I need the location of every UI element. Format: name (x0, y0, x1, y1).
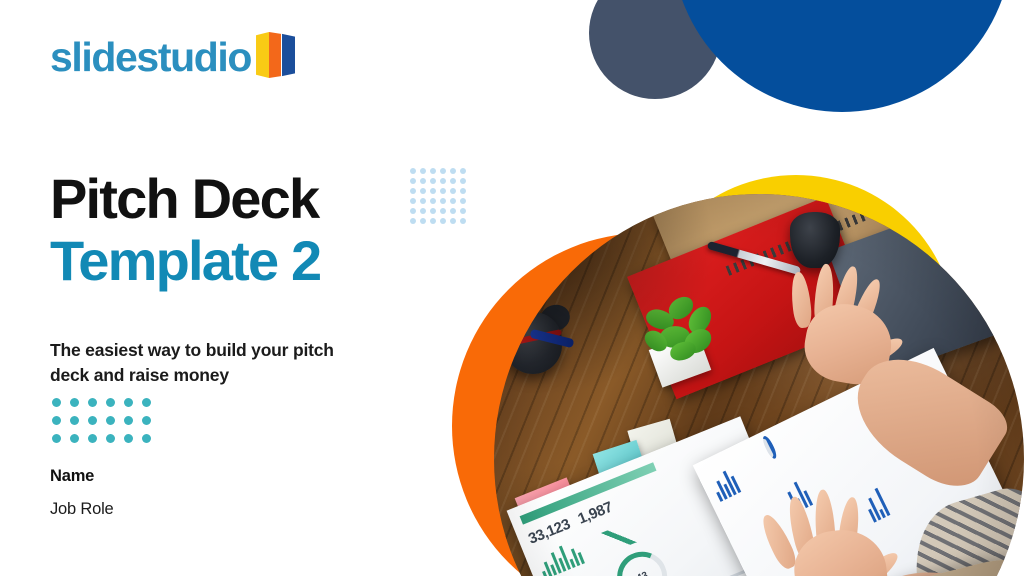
brand-logo[interactable]: slidestudio (50, 32, 296, 82)
title-line-secondary: Template 2 (50, 230, 450, 292)
brand-logo-pages-icon (256, 32, 296, 82)
author-name: Name (50, 467, 114, 486)
dot-grid-teal (52, 398, 151, 443)
brand-logo-text: slidestudio (50, 37, 251, 78)
slide-canvas: 33,123 1,987 71 43 (0, 0, 1024, 576)
title-line-primary: Pitch Deck (50, 168, 450, 230)
desk-cup (790, 212, 840, 268)
author-role: Job Role (50, 500, 114, 519)
author-block: Name Job Role (50, 467, 114, 519)
report-kpi-value: 1,987 (576, 499, 615, 528)
desk-photo: 33,123 1,987 71 43 (494, 194, 1024, 576)
page-title: Pitch Deck Template 2 (50, 168, 450, 291)
succulent-plant (642, 298, 724, 362)
subtitle-text: The easiest way to build your pitch deck… (50, 338, 350, 389)
hero-photo-circle: 33,123 1,987 71 43 (494, 194, 1024, 576)
decorative-circle-blue (672, 0, 1012, 112)
